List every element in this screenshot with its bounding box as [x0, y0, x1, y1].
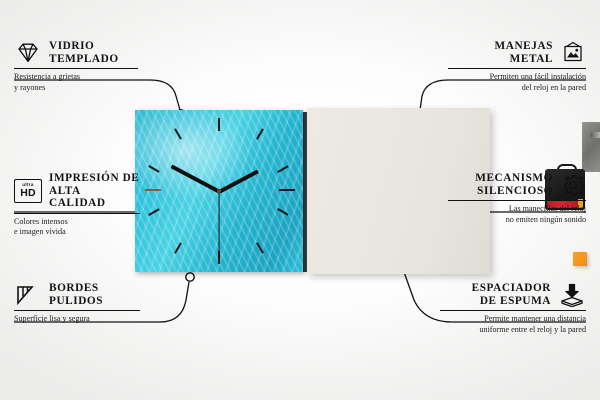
clock-tick — [279, 189, 295, 191]
feature-description: Resistencia a grietas y rayones — [14, 72, 138, 92]
clock-front-face — [135, 110, 303, 272]
feature-description: Las manecillas del reloj no emiten ningú… — [448, 204, 586, 224]
feature-title: IMPRESIÓN DE ALTA CALIDAD — [49, 172, 140, 210]
feature-rule — [448, 68, 586, 69]
clock-tick — [277, 165, 288, 172]
picture-frame-hook-icon — [560, 41, 586, 65]
feature-bordes-pulidos: BORDES PULIDOS Superficie lisa y segura — [14, 282, 140, 325]
clock-tick — [174, 128, 181, 139]
clock-second-hand — [218, 192, 219, 258]
feature-manejas-metal: MANEJAS METAL Permiten una fácil instala… — [448, 40, 586, 93]
feature-title: MANEJAS METAL — [495, 40, 553, 65]
feature-description: Permite mantener una distancia uniforme … — [440, 314, 586, 334]
feature-rule — [448, 200, 586, 201]
clock-tick — [256, 128, 263, 139]
metal-hanger-plate — [582, 122, 600, 172]
clock-tick — [148, 208, 159, 215]
ultra-hd-icon: ultra HD — [14, 179, 42, 203]
diamond-icon — [14, 42, 42, 64]
feature-espaciador-de-espuma: ESPACIADOR DE ESPUMA Permite mantener un… — [440, 282, 586, 335]
feature-vidrio-templado: VIDRIO TEMPLADO Resistencia a grietas y … — [14, 40, 138, 93]
gear-icon — [560, 173, 586, 197]
feature-title: VIDRIO TEMPLADO — [49, 40, 119, 65]
clock-tick — [256, 242, 263, 253]
clock-hour-hand — [218, 170, 259, 194]
infographic-canvas: VIDRIO TEMPLADO Resistencia a grietas y … — [0, 0, 600, 400]
polished-edges-icon — [14, 284, 42, 306]
feature-description: Colores intensos e imagen vívida — [14, 217, 140, 237]
feature-title: BORDES PULIDOS — [49, 282, 103, 307]
clock-tick — [218, 118, 220, 131]
feature-description: Permiten una fácil instalación del reloj… — [448, 72, 586, 92]
feature-title: MECANISMO SILENCIOSO — [475, 172, 553, 197]
foam-spacer-pad — [573, 252, 587, 266]
feature-rule — [14, 68, 138, 69]
product-illustration — [128, 104, 500, 284]
feature-impresion-alta-calidad: ultra HD IMPRESIÓN DE ALTA CALIDAD Color… — [14, 172, 140, 237]
clock-tick — [148, 165, 159, 172]
hanger-keyhole-slot — [590, 132, 600, 138]
feature-mecanismo-silencioso: MECANISMO SILENCIOSO Las manecillas del … — [448, 172, 586, 225]
clock-minute-hand — [170, 165, 219, 194]
feature-rule — [14, 213, 140, 214]
feature-rule — [14, 310, 140, 311]
clock-tick — [145, 189, 161, 191]
clock-tick — [174, 242, 181, 253]
feature-rule — [440, 310, 586, 311]
foam-spacer-arrow-icon — [558, 283, 586, 307]
clock-tick — [277, 208, 288, 215]
ultra-hd-icon-main: HD — [20, 188, 36, 199]
clock-pivot — [217, 189, 221, 193]
feature-title: ESPACIADOR DE ESPUMA — [472, 282, 551, 307]
feature-description: Superficie lisa y segura — [14, 314, 140, 324]
